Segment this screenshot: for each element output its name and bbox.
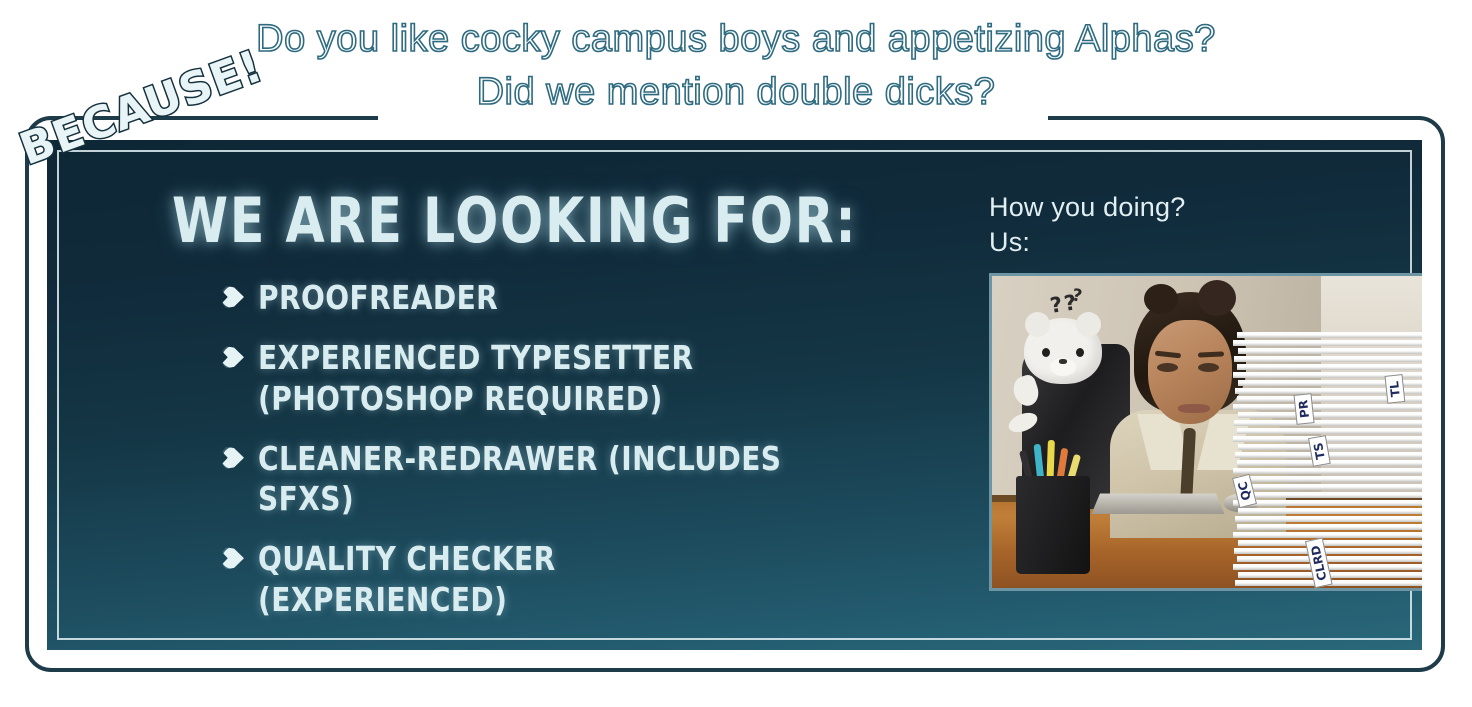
- role-label: PROOFREADER: [258, 278, 498, 318]
- list-item: EXPERIENCED TYPESETTER (PHOTOSHOP REQUIR…: [222, 338, 932, 419]
- chevron-heart-bullet-icon: [222, 547, 244, 569]
- caption-line-1: How you doing?: [989, 190, 1422, 225]
- bear-nose: [1059, 359, 1067, 364]
- photo-pen-cup: [1016, 476, 1090, 574]
- bear-plush-icon: [1024, 318, 1102, 384]
- list-item: PROOFREADER: [222, 278, 932, 318]
- poster-card: WE ARE LOOKING FOR: PROOFREADER EXPERIEN…: [47, 140, 1422, 650]
- photo-lips: [1178, 404, 1210, 413]
- paper-tag: TL: [1385, 374, 1406, 404]
- page-title: WE ARE LOOKING FOR:: [172, 190, 795, 252]
- list-item: CLEANER-REDRAWER (INCLUDES SFXS): [222, 439, 932, 520]
- chevron-heart-bullet-icon: [222, 447, 244, 469]
- bear-eye-left: [1042, 348, 1050, 357]
- bear-ear-left: [1025, 312, 1050, 337]
- photo-hair-bun-right: [1198, 280, 1236, 316]
- photo-keyboard: [1091, 494, 1224, 514]
- role-label: QUALITY CHECKER (EXPERIENCED): [258, 539, 556, 620]
- meme-photo: ?? ?: [989, 273, 1422, 591]
- chevron-heart-bullet-icon: [222, 286, 244, 308]
- left-column: WE ARE LOOKING FOR: PROOFREADER EXPERIEN…: [172, 190, 932, 640]
- paper-tag: PR: [1294, 393, 1315, 425]
- photo-paper-stack: PR TL TS QC CLRD: [1233, 332, 1422, 588]
- bear-eye-right: [1076, 348, 1084, 357]
- role-label: CLEANER-REDRAWER (INCLUDES SFXS): [258, 439, 831, 520]
- bear-ear-right: [1076, 312, 1101, 337]
- chevron-heart-bullet-icon: [222, 346, 244, 368]
- caption-line-2: Us:: [989, 225, 1422, 260]
- list-item: QUALITY CHECKER (EXPERIENCED): [222, 539, 932, 620]
- right-column: How you doing? Us: ?? ?: [989, 190, 1422, 591]
- photo-hair-bun-left: [1144, 284, 1178, 314]
- role-label: EXPERIENCED TYPESETTER (PHOTOSHOP REQUIR…: [258, 338, 694, 419]
- role-list: PROOFREADER EXPERIENCED TYPESETTER (PHOT…: [222, 278, 932, 620]
